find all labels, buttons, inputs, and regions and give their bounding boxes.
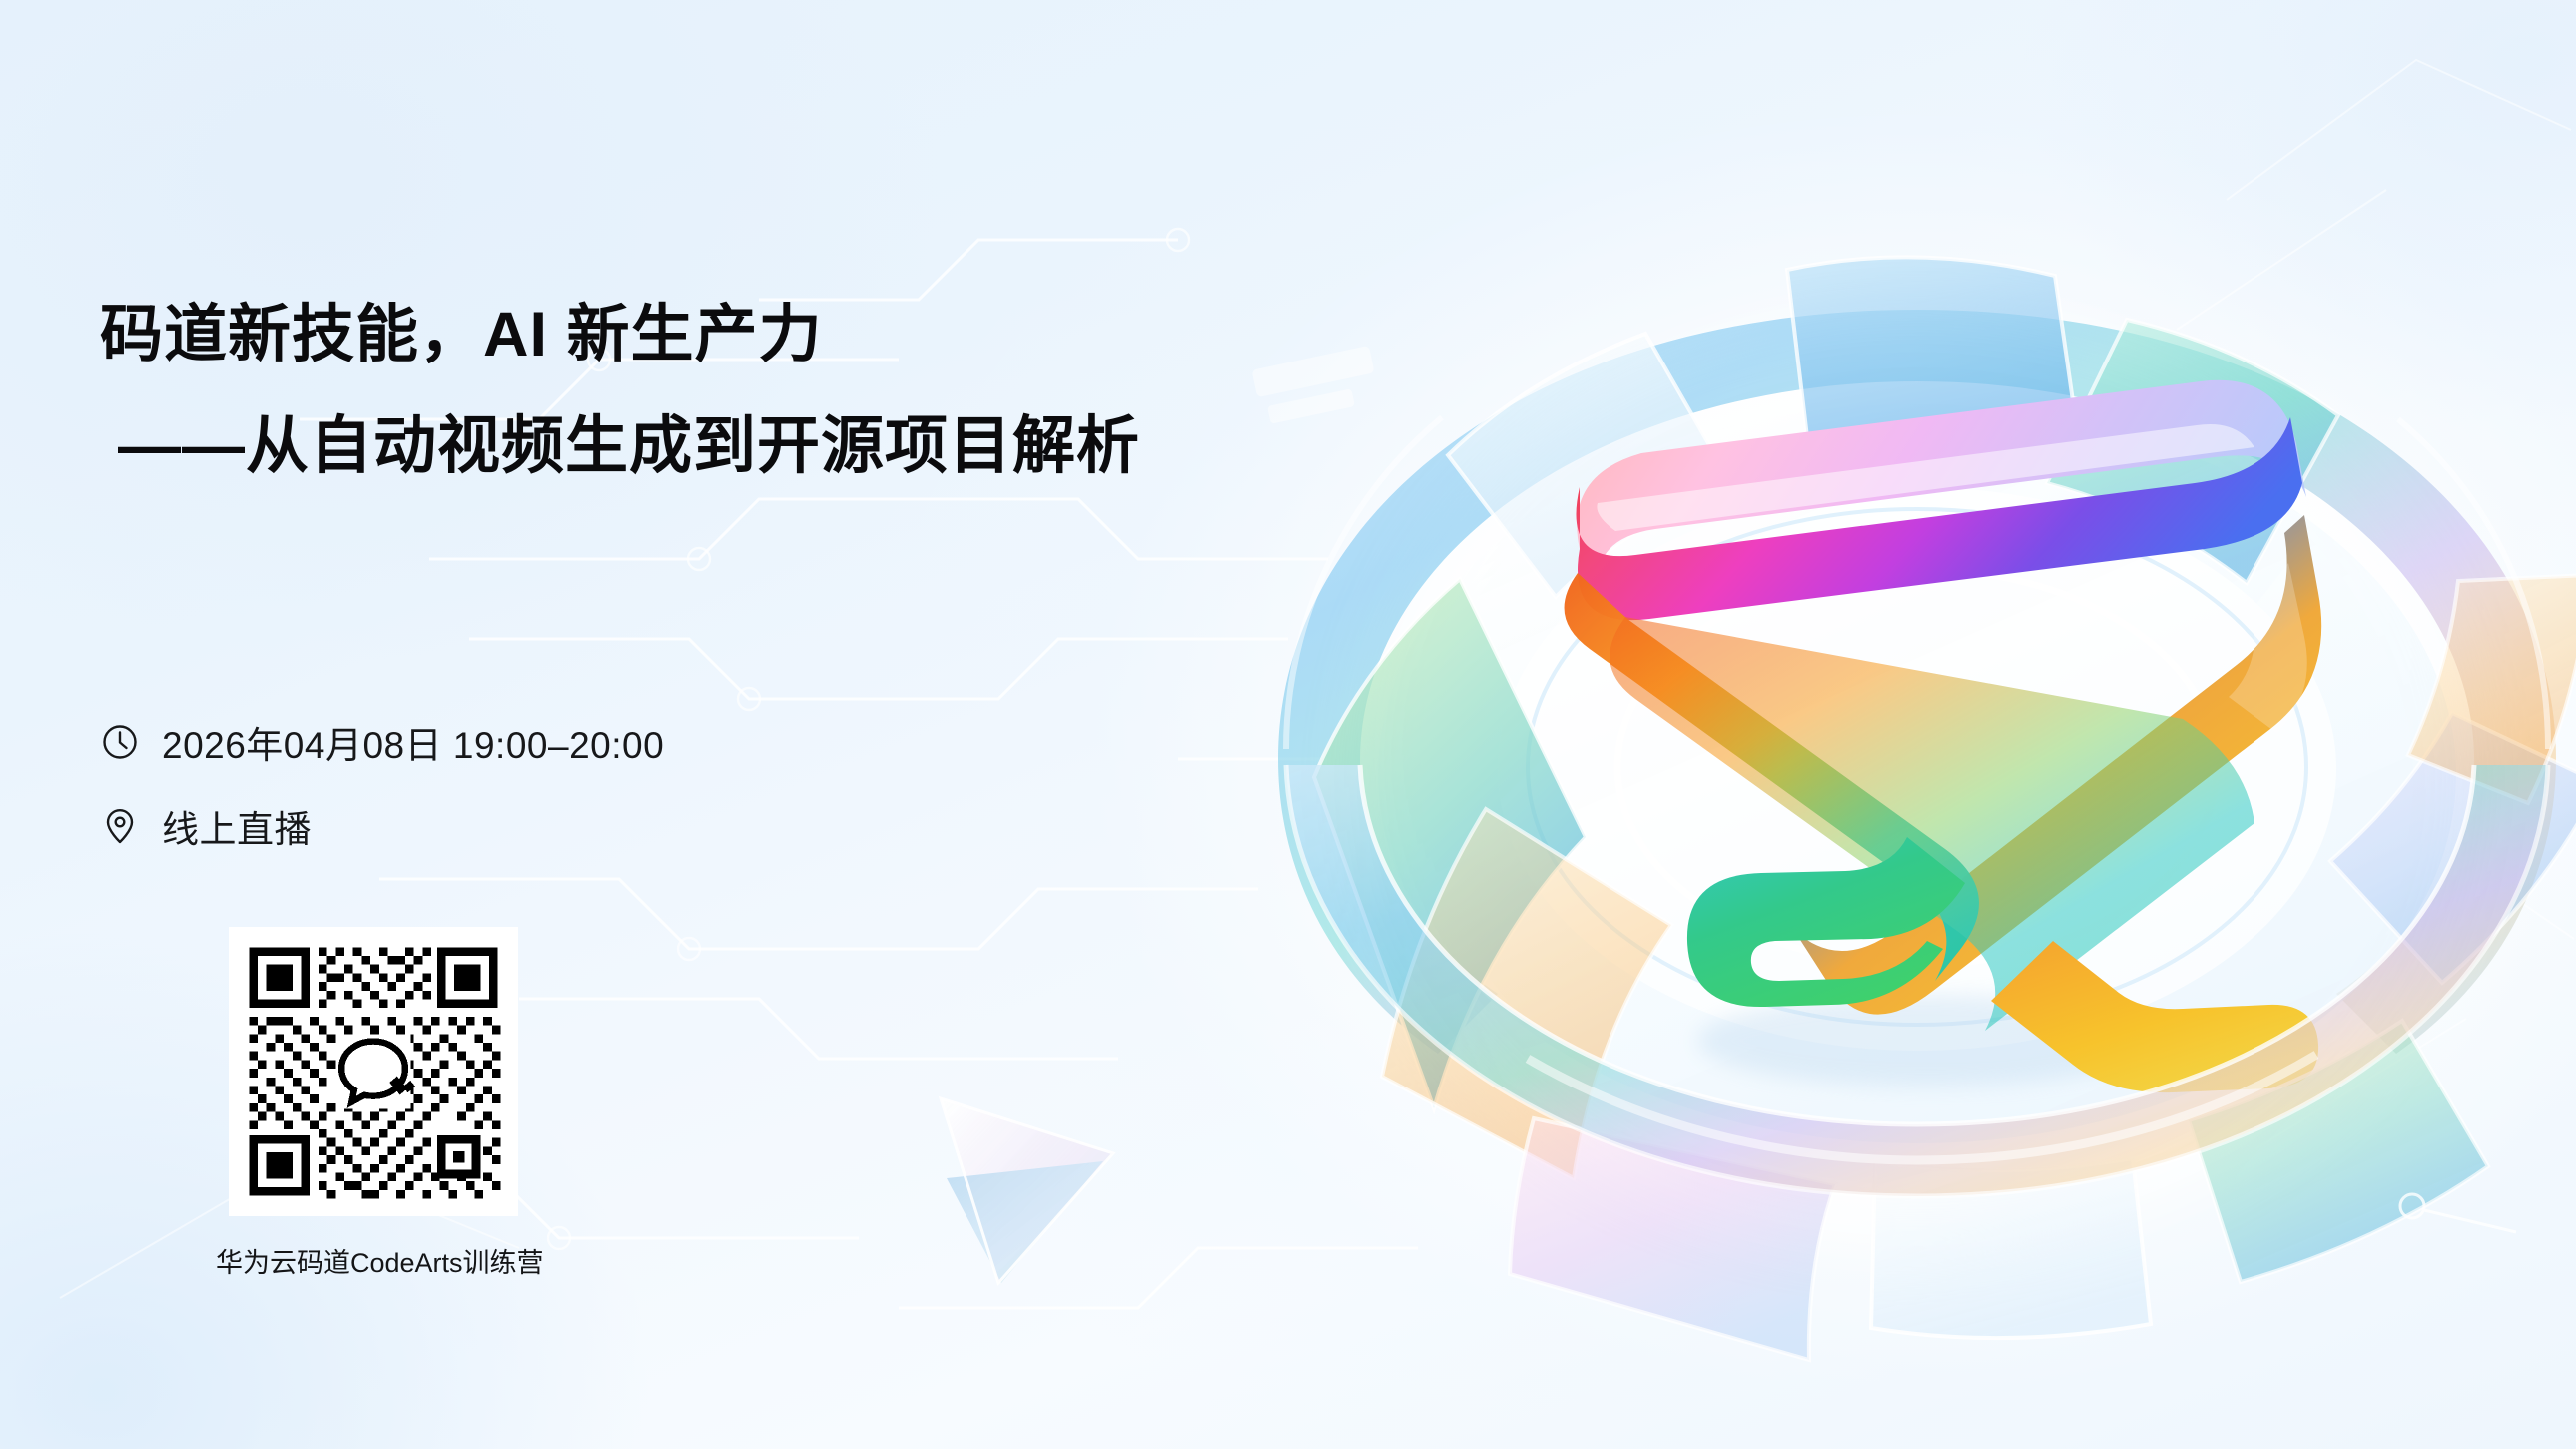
qr-caption: 华为云码道CodeArts训练营 bbox=[216, 1241, 505, 1280]
title-block: 码道新技能，AI 新生产力 ——从自动视频生成到开源项目解析 bbox=[100, 298, 1140, 484]
event-datetime-row: 2026年04月08日 19:00–20:00 bbox=[100, 713, 664, 771]
page-title: 码道新技能，AI 新生产力 bbox=[100, 298, 1140, 371]
qr-block: 华为云码道CodeArts训练营 bbox=[229, 927, 518, 1280]
location-pin-icon bbox=[100, 806, 140, 846]
event-poster: 码道新技能，AI 新生产力 ——从自动视频生成到开源项目解析 2026年04月0… bbox=[0, 0, 2576, 1449]
codearts-3d-artwork bbox=[1228, 120, 2576, 1408]
event-venue-text: 线上直播 bbox=[162, 799, 312, 853]
event-datetime-text: 2026年04月08日 19:00–20:00 bbox=[162, 715, 664, 769]
page-subtitle: ——从自动视频生成到开源项目解析 bbox=[100, 409, 1140, 483]
qr-code[interactable] bbox=[229, 927, 518, 1216]
event-meta: 2026年04月08日 19:00–20:00 线上直播 bbox=[100, 713, 664, 881]
qr-code-image bbox=[229, 927, 518, 1216]
clock-icon bbox=[100, 722, 140, 762]
event-venue-row: 线上直播 bbox=[100, 797, 664, 855]
poster-content: 码道新技能，AI 新生产力 ——从自动视频生成到开源项目解析 2026年04月0… bbox=[0, 0, 1198, 1449]
